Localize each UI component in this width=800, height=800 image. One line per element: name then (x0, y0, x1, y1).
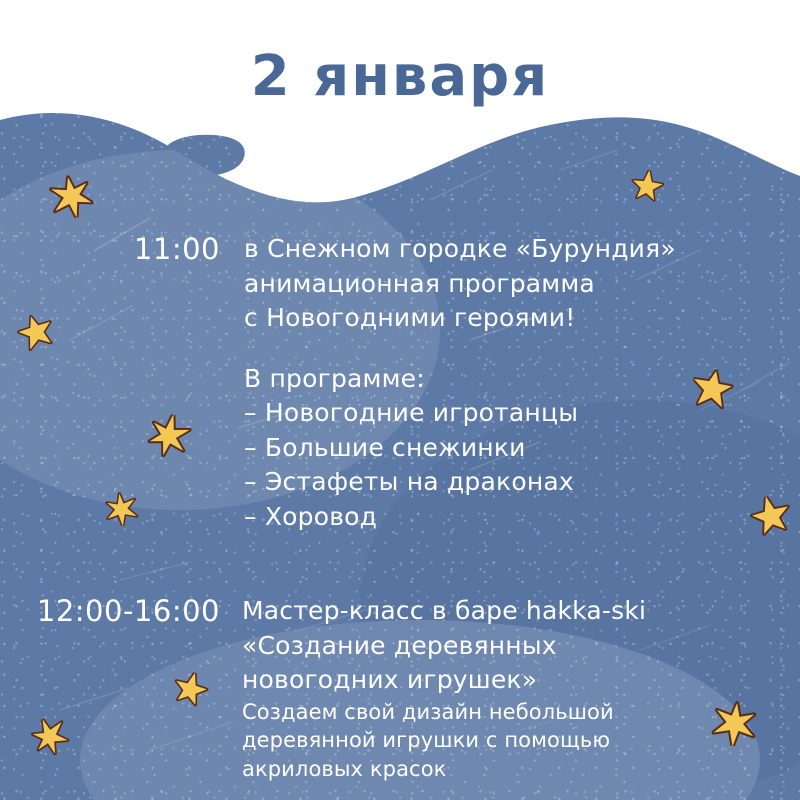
entry-description-line: деревянной игрушки с помощью (242, 726, 646, 755)
star-top-right-icon (628, 168, 666, 206)
poster-canvas: 2 января 11:00 в Снежном городке «Бурунд… (0, 0, 800, 800)
entry-line: анимационная программа (244, 267, 676, 302)
program-item: – Эстафеты на драконах (244, 465, 676, 500)
spacer (244, 336, 676, 362)
entry-body-1: в Снежном городке «Бурундия» анимационна… (244, 232, 676, 534)
page-title: 2 января (0, 44, 800, 109)
program-item: – Хоровод (244, 500, 676, 535)
entry-time-2: 12:00-16:00 (0, 594, 242, 628)
entry-line: «Создание деревянных (242, 629, 646, 664)
entry-line: с Новогодними героями! (244, 301, 676, 336)
schedule-entry-1: 11:00 в Снежном городке «Бурундия» анима… (0, 232, 800, 534)
entry-line: новогодних игрушек» (242, 663, 646, 698)
entry-spacer (0, 534, 800, 594)
program-heading: В программе: (244, 362, 676, 397)
entry-line: в Снежном городке «Бурундия» (244, 232, 676, 267)
entry-time-1: 11:00 (34, 232, 244, 266)
entry-body-2: Мастер-класс в баре hakka-ski «Создание … (242, 594, 646, 784)
program-item: – Новогодние игротанцы (244, 396, 676, 431)
program-item: – Большие снежинки (244, 431, 676, 466)
entry-description-line: Создаем свой дизайн небольшой (242, 698, 646, 727)
entry-line: Мастер-класс в баре hakka-ski (242, 594, 646, 629)
schedule-list: 11:00 в Снежном городке «Бурундия» анима… (0, 232, 800, 784)
schedule-entry-2: 12:00-16:00 Мастер-класс в баре hakka-sk… (0, 594, 800, 784)
star-top-left-icon (46, 170, 98, 222)
entry-description-line: акриловых красок (242, 755, 646, 784)
